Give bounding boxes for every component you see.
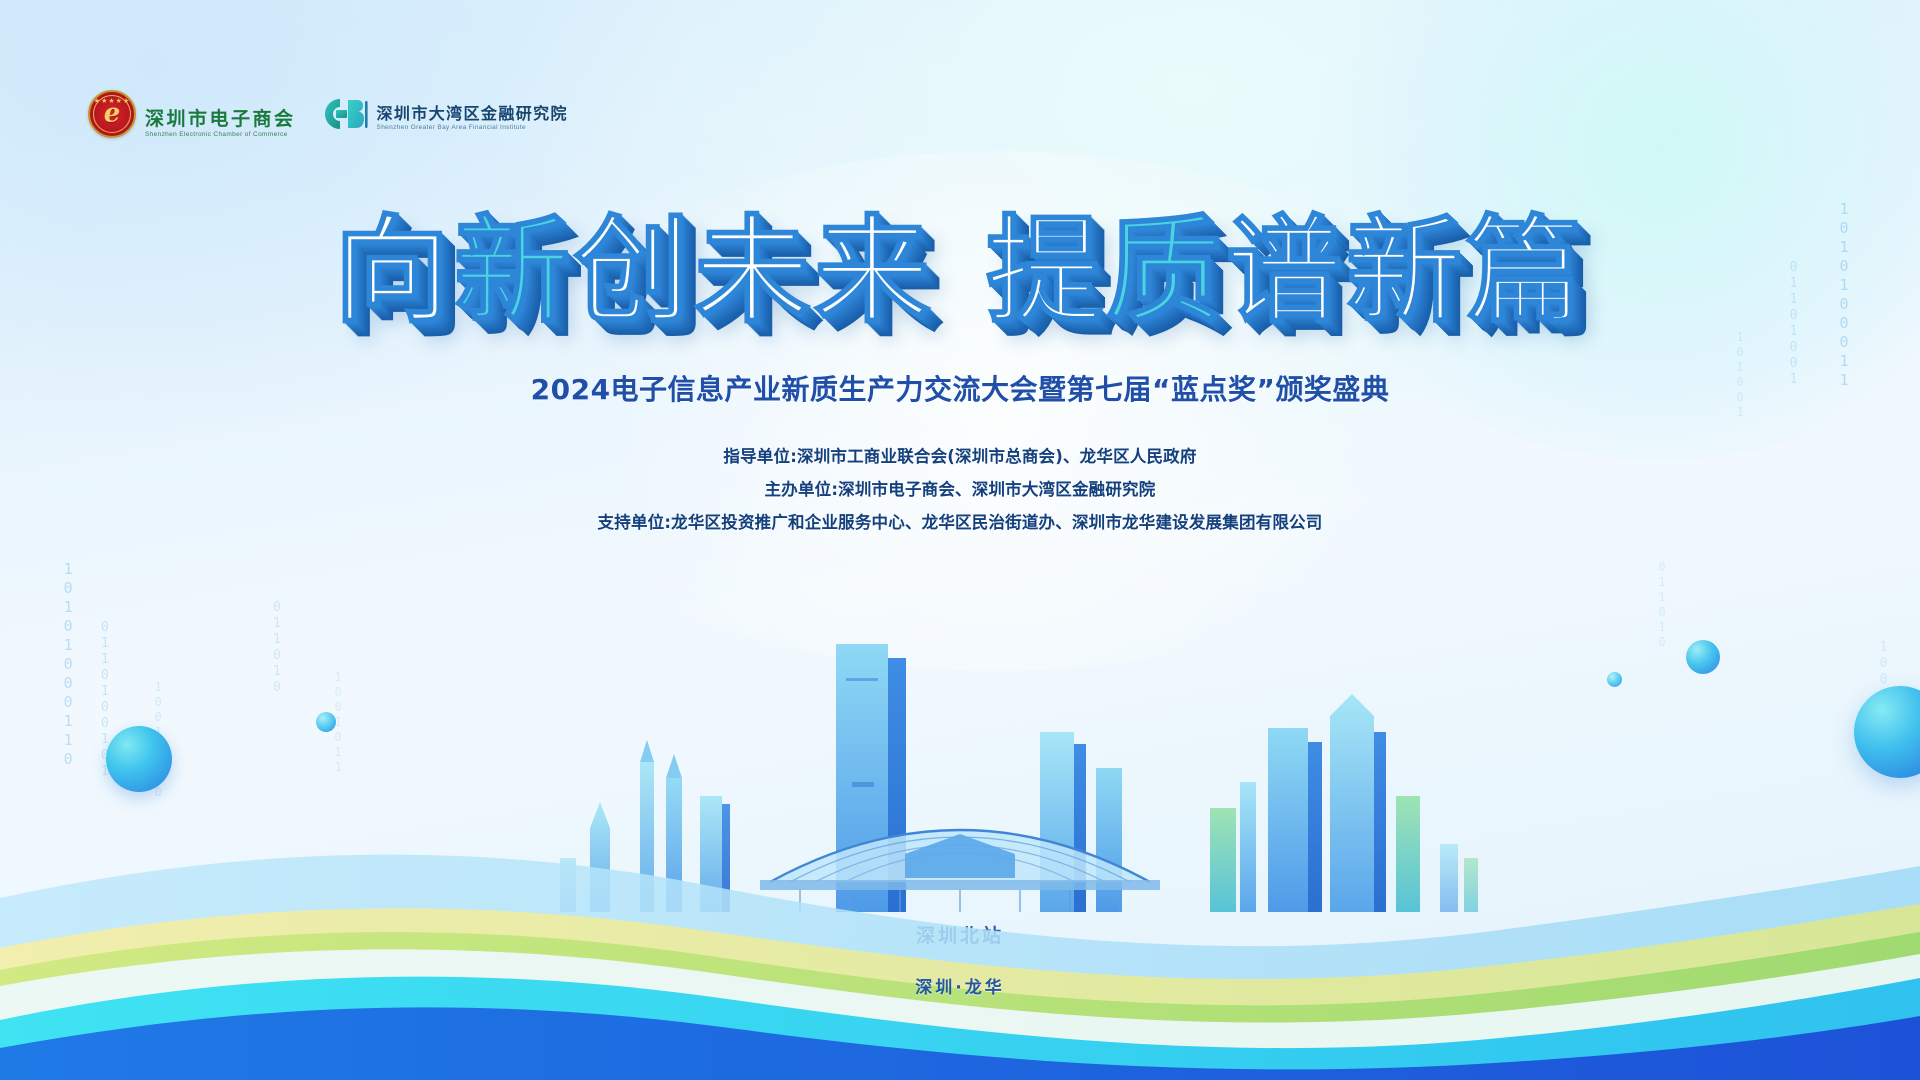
main-title: 向新创未来提质谱新篇: [334, 212, 1586, 333]
seal-glyph: e: [104, 100, 121, 126]
title-char-1: 向: [334, 212, 454, 333]
chamber-name-en: Shenzhen Electronic Chamber of Commerce: [145, 131, 296, 138]
red-circular-seal-icon: ★★★★★ e: [88, 90, 136, 138]
chamber-name-cn: 深圳市电子商会: [145, 110, 296, 130]
banner-stage: 10101000110 0110100101 10010110 011010 1…: [0, 0, 1920, 1080]
gbi-name-cn: 深圳市大湾区金融研究院: [377, 106, 568, 123]
title-char-3: 创: [574, 212, 694, 333]
logo-shenzhen-electronic-chamber: ★★★★★ e 深圳市电子商会 Shenzhen Electronic Cham…: [88, 90, 296, 138]
title-char-10: 篇: [1466, 212, 1586, 333]
footer-location-label: 深圳·龙华: [915, 973, 1004, 998]
title-char-2: 新: [454, 212, 574, 333]
main-title-block: 向新创未来提质谱新篇: [0, 212, 1920, 333]
title-char-4: 未: [694, 212, 814, 333]
organizer-line-host: 主办单位:深圳市电子商会、深圳市大湾区金融研究院: [0, 473, 1920, 506]
title-char-7: 质: [1106, 212, 1226, 333]
organizer-line-support: 支持单位:龙华区投资推广和企业服务中心、龙华区民治街道办、深圳市龙华建设发展集团…: [0, 506, 1920, 539]
logo-gbi-financial-institute: 深圳市大湾区金融研究院 Shenzhen Greater Bay Area Fi…: [324, 97, 568, 131]
event-subtitle: 2024电子信息产业新质生产力交流大会暨第七届“蓝点奖”颁奖盛典: [0, 368, 1920, 408]
organizer-block: 指导单位:深圳市工商业联合会(深圳市总商会)、龙华区人民政府 主办单位:深圳市电…: [0, 440, 1920, 539]
organizer-line-guidance: 指导单位:深圳市工商业联合会(深圳市总商会)、龙华区人民政府: [0, 440, 1920, 473]
title-char-8: 谱: [1226, 212, 1346, 333]
gbi-name-en: Shenzhen Greater Bay Area Financial Inst…: [377, 124, 568, 131]
title-char-9: 新: [1346, 212, 1466, 333]
gbi-mark-icon: [324, 97, 368, 131]
logo-bar: ★★★★★ e 深圳市电子商会 Shenzhen Electronic Cham…: [88, 90, 568, 138]
wave-decor: [0, 780, 1920, 1080]
title-char-5: 来: [814, 212, 934, 333]
title-char-6: 提: [986, 212, 1106, 333]
